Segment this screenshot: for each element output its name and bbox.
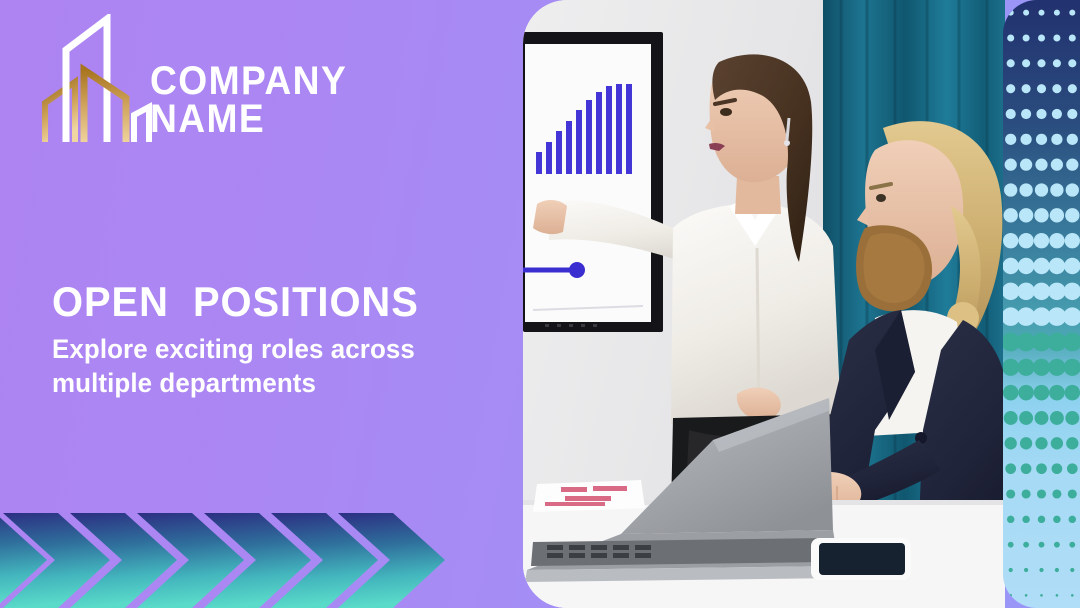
smartphone	[811, 538, 911, 580]
halftone-dot	[1069, 10, 1075, 16]
halftone-dot	[1049, 233, 1064, 248]
brand-name-line2: NAME	[150, 100, 345, 138]
halftone-dot	[1066, 437, 1078, 449]
halftone-dot	[1038, 516, 1045, 523]
halftone-dot	[1053, 59, 1061, 67]
halftone-dot	[1035, 183, 1048, 196]
halftone-dot	[1050, 183, 1063, 196]
halftone-dot	[1039, 542, 1045, 548]
halftone-dot	[1053, 516, 1060, 523]
halftone-dot	[1052, 489, 1061, 498]
halftone-dot	[1020, 134, 1031, 145]
halftone-dot	[1052, 84, 1061, 93]
halftone-dot	[1065, 411, 1079, 425]
building-skyline-icon	[18, 14, 158, 144]
halftone-dot	[1055, 568, 1059, 572]
halftone-dot	[1067, 463, 1078, 474]
halftone-dot	[1008, 542, 1014, 548]
halftone-dot	[1022, 84, 1031, 93]
halftone-dot	[1049, 385, 1065, 401]
halftone-dot	[1004, 183, 1017, 196]
halftone-dot	[1023, 10, 1029, 16]
halftone-dot	[1022, 516, 1029, 523]
page-title: OPEN POSITIONS	[52, 281, 480, 323]
halftone-dot	[1050, 208, 1064, 222]
halftone-dot	[1048, 359, 1065, 376]
halftone-dot	[1056, 594, 1059, 597]
halftone-dot	[1003, 233, 1018, 248]
halftone-dot	[1039, 10, 1045, 16]
brand-name-line1: COMPANY	[150, 62, 345, 100]
halftone-dot	[1071, 594, 1074, 597]
halftone-dot	[1007, 516, 1014, 523]
halftone-dot	[1067, 109, 1077, 119]
meeting-room-photo	[523, 0, 1005, 608]
halftone-dot	[1020, 159, 1032, 171]
halftone-dot	[1017, 283, 1034, 300]
halftone-dot	[1048, 283, 1065, 300]
halftone-dot	[1004, 411, 1018, 425]
halftone-dot	[1033, 359, 1050, 376]
halftone-dot	[1040, 594, 1043, 597]
logo-block[interactable]: COMPANY NAME	[18, 14, 348, 150]
brand-name: COMPANY NAME	[150, 62, 345, 139]
halftone-dot	[1025, 594, 1028, 597]
halftone-dot	[1066, 183, 1079, 196]
halftone-dot	[1034, 385, 1050, 401]
halftone-dot	[1019, 208, 1033, 222]
halftone-dot	[1051, 159, 1063, 171]
halftone-dot	[1036, 109, 1046, 119]
halftone-dot	[1051, 437, 1063, 449]
halftone-dot	[1050, 411, 1064, 425]
halftone-dot	[1054, 542, 1060, 548]
halftone-dot	[1065, 208, 1079, 222]
desk-document	[533, 480, 645, 512]
halftone-dot	[1039, 568, 1043, 572]
halftone-dot	[1037, 489, 1046, 498]
headline-block: OPEN POSITIONS Explore exciting roles ac…	[52, 281, 502, 400]
halftone-dot	[1022, 59, 1030, 67]
halftone-dot	[1066, 159, 1078, 171]
halftone-dot	[1019, 411, 1033, 425]
halftone-dot	[1021, 463, 1032, 474]
halftone-dot	[1022, 489, 1031, 498]
halftone-dot	[1006, 109, 1016, 119]
halftone-dot	[1006, 84, 1015, 93]
halftone-dot	[1065, 385, 1080, 401]
halftone-dot	[1020, 437, 1032, 449]
halftone-dot	[1007, 59, 1015, 67]
halftone-dot	[1018, 359, 1035, 376]
halftone-dot	[1053, 34, 1060, 41]
halftone-dot	[1003, 385, 1018, 401]
halftone-dot	[1054, 10, 1060, 16]
halftone-dot	[1019, 183, 1032, 196]
halftone-dot	[1023, 542, 1029, 548]
halftone-dot	[1064, 258, 1080, 274]
halftone-dot	[1021, 109, 1031, 119]
halftone-dot	[1034, 208, 1048, 222]
halftone-dot	[1037, 59, 1045, 67]
slide-canvas: COMPANY NAME OPEN POSITIONS Explore exci…	[0, 0, 1080, 608]
halftone-dot	[1049, 258, 1065, 274]
halftone-dot	[1036, 463, 1047, 474]
halftone-dot	[1005, 463, 1016, 474]
halftone-dot	[1005, 437, 1017, 449]
halftone-dot	[1004, 208, 1018, 222]
halftone-dot	[1038, 34, 1045, 41]
halftone-dot	[1035, 411, 1049, 425]
halftone-dot	[1036, 134, 1047, 145]
halftone-dot	[1068, 84, 1077, 93]
halftone-dot	[1006, 489, 1015, 498]
halftone-dot	[1069, 542, 1075, 548]
halftone-dot	[1068, 489, 1077, 498]
halftone-dot	[1033, 258, 1049, 274]
halftone-dot	[1069, 34, 1076, 41]
halftone-dot	[1005, 134, 1016, 145]
halftone-dot	[1034, 233, 1049, 248]
halftone-dot	[1068, 59, 1076, 67]
halftone-dot	[1033, 283, 1050, 300]
halftone-dot	[1005, 159, 1017, 171]
halftone-dot	[1067, 134, 1078, 145]
halftone-dot	[1037, 84, 1046, 93]
halftone-dot	[1052, 109, 1062, 119]
halftone-dot	[1069, 516, 1076, 523]
halftone-dot	[1023, 34, 1030, 41]
page-subtitle: Explore exciting roles across multiple d…	[52, 332, 503, 400]
halftone-dot	[1018, 385, 1034, 401]
halftone-dot	[1007, 34, 1014, 41]
halftone-dot	[1003, 258, 1019, 274]
halftone-dot	[1065, 233, 1080, 248]
halftone-dot	[1009, 568, 1013, 572]
halftone-dot	[1035, 159, 1047, 171]
halftone-dot-pattern	[1003, 0, 1080, 608]
halftone-dot	[1052, 463, 1063, 474]
halftone-dot	[1018, 233, 1033, 248]
halftone-dot	[1024, 568, 1028, 572]
halftone-dot	[1035, 437, 1047, 449]
wall-display	[523, 32, 663, 332]
halftone-dot	[1018, 258, 1034, 274]
halftone-dot	[1070, 568, 1074, 572]
halftone-dot	[1051, 134, 1062, 145]
chevron-arrow-icon-strip	[0, 483, 470, 608]
